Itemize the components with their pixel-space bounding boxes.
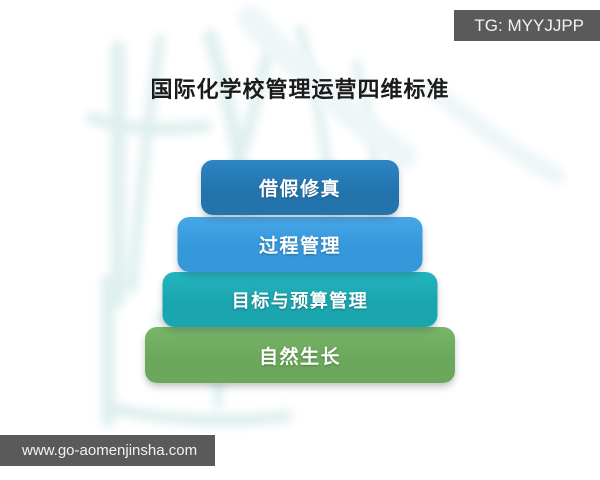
slide-canvas: 国际化学校管理运营四维标准 借假修真 过程管理 目标与预算管理 自然生长 TG:… [0,0,600,480]
pyramid-level-3[interactable]: 目标与预算管理 [163,272,438,327]
pyramid-level-3-label: 目标与预算管理 [232,287,369,313]
pyramid-level-1[interactable]: 借假修真 [201,160,399,215]
pyramid-level-1-label: 借假修真 [259,174,341,201]
pyramid-level-2[interactable]: 过程管理 [178,217,423,272]
pyramid-level-2-label: 过程管理 [259,231,341,258]
telegram-handle-badge: TG: MYYJJPP [454,10,600,41]
page-title: 国际化学校管理运营四维标准 [0,72,600,104]
website-url-badge: www.go-aomenjinsha.com [0,435,215,466]
pyramid-level-4-label: 自然生长 [259,342,341,369]
pyramid-level-4[interactable]: 自然生长 [145,327,455,383]
